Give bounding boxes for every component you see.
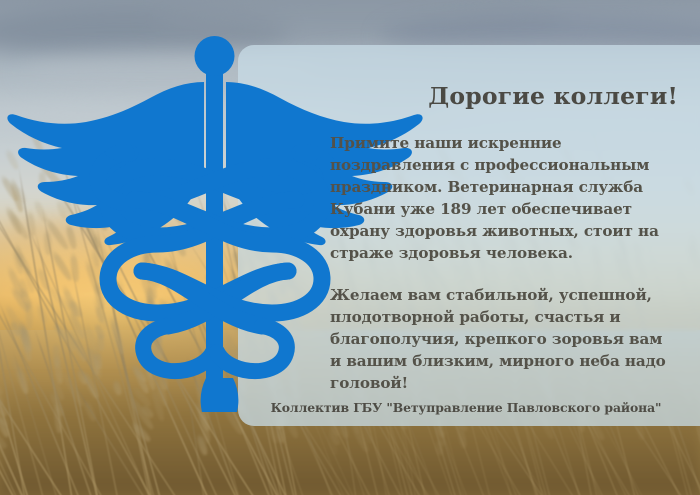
signature-line: Коллектив ГБУ "Ветуправление Павловского… (240, 400, 692, 415)
message-text-column: Дорогие коллеги! Примите наши искренние … (330, 84, 678, 394)
message-paragraph-2: Желаем вам стабильной, успешной, плодотв… (330, 284, 678, 394)
page-title: Дорогие коллеги! (330, 84, 678, 110)
poster-canvas: Дорогие коллеги! Примите наши искренние … (0, 0, 700, 495)
message-paragraph-1: Примите наши искренние поздравления с пр… (330, 132, 678, 264)
